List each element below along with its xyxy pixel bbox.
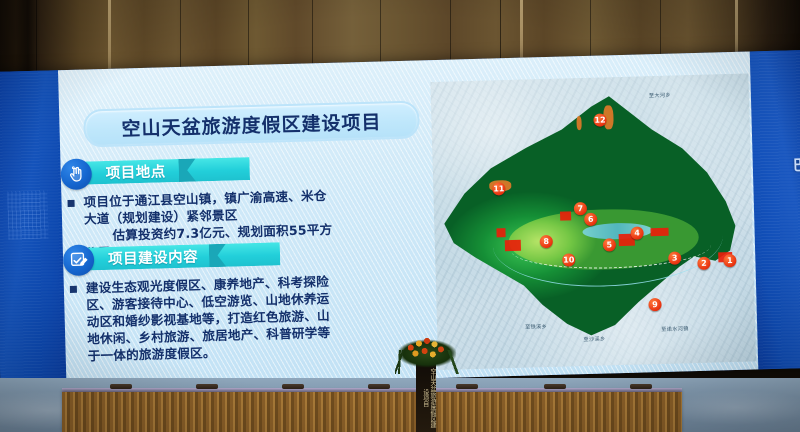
map-label: 至铁溪乡 — [525, 323, 547, 331]
section-heading: 项目地点 — [105, 160, 166, 183]
microphone — [544, 384, 566, 389]
bullet-square-icon — [70, 286, 77, 293]
flower-bouquet — [398, 330, 456, 372]
section-body: 建设生态观光度假区、康养地产、科考探险 区、游客接待中心、低空游览、山地休养运 … — [64, 270, 426, 365]
map-label: 至诺水河镇 — [661, 325, 689, 333]
map-marker[interactable]: 2 — [697, 257, 710, 270]
stand-banner: 空山天盆旅游度假区建设项目 — [416, 364, 436, 432]
map-marker[interactable]: 1 — [723, 254, 736, 267]
scene-root: 巴 空山天盆旅游度假区建设项目 项目地点 — [0, 0, 800, 432]
microphone — [368, 384, 390, 389]
section-heading: 项目建设内容 — [108, 245, 199, 268]
section-ribbon: 项目地点 — [77, 157, 250, 185]
edge-partial-character: 巴 — [793, 158, 800, 173]
hand-pointer-icon — [60, 158, 92, 190]
map-zone-red — [496, 228, 505, 237]
section-header: 项目地点 — [60, 152, 421, 188]
planning-map: 1 2 3 4 5 6 7 8 9 10 11 12 9 至大河乡 至诺水河镇 … — [430, 74, 756, 370]
microphone — [282, 384, 304, 389]
flower-arrangement-stand: 空山天盆旅游度假区建设项目 — [398, 330, 456, 432]
section-project-content: 项目建设内容 建设生态观光度假区、康养地产、科考探险 区、游客接待中心、 — [63, 238, 426, 365]
microphone — [630, 384, 652, 389]
slide-title-pill: 空山天盆旅游度假区建设项目 — [83, 100, 420, 147]
screen-right-blue-panel: 巴 — [750, 50, 800, 370]
bullet-square-icon — [67, 200, 74, 207]
dot-matrix-texture — [7, 191, 48, 240]
map-zone-red — [650, 228, 668, 236]
page-title: 空山天盆旅游度假区建设项目 — [121, 107, 382, 141]
map-label: 至沙溪乡 — [583, 336, 605, 344]
map-marker[interactable]: 9 — [648, 298, 661, 311]
map-zone-red — [505, 240, 521, 251]
conference-table-skirt — [62, 392, 682, 432]
map-zone-orange — [576, 116, 581, 130]
microphone — [196, 384, 218, 389]
screen-left-blue-panel — [0, 70, 67, 390]
map-zone-red — [560, 211, 571, 220]
pencil-edit-icon — [63, 244, 95, 276]
microphone — [110, 384, 132, 389]
map-label: 至大河乡 — [649, 92, 671, 100]
microphone — [456, 384, 478, 389]
section-ribbon: 项目建设内容 — [80, 242, 281, 270]
